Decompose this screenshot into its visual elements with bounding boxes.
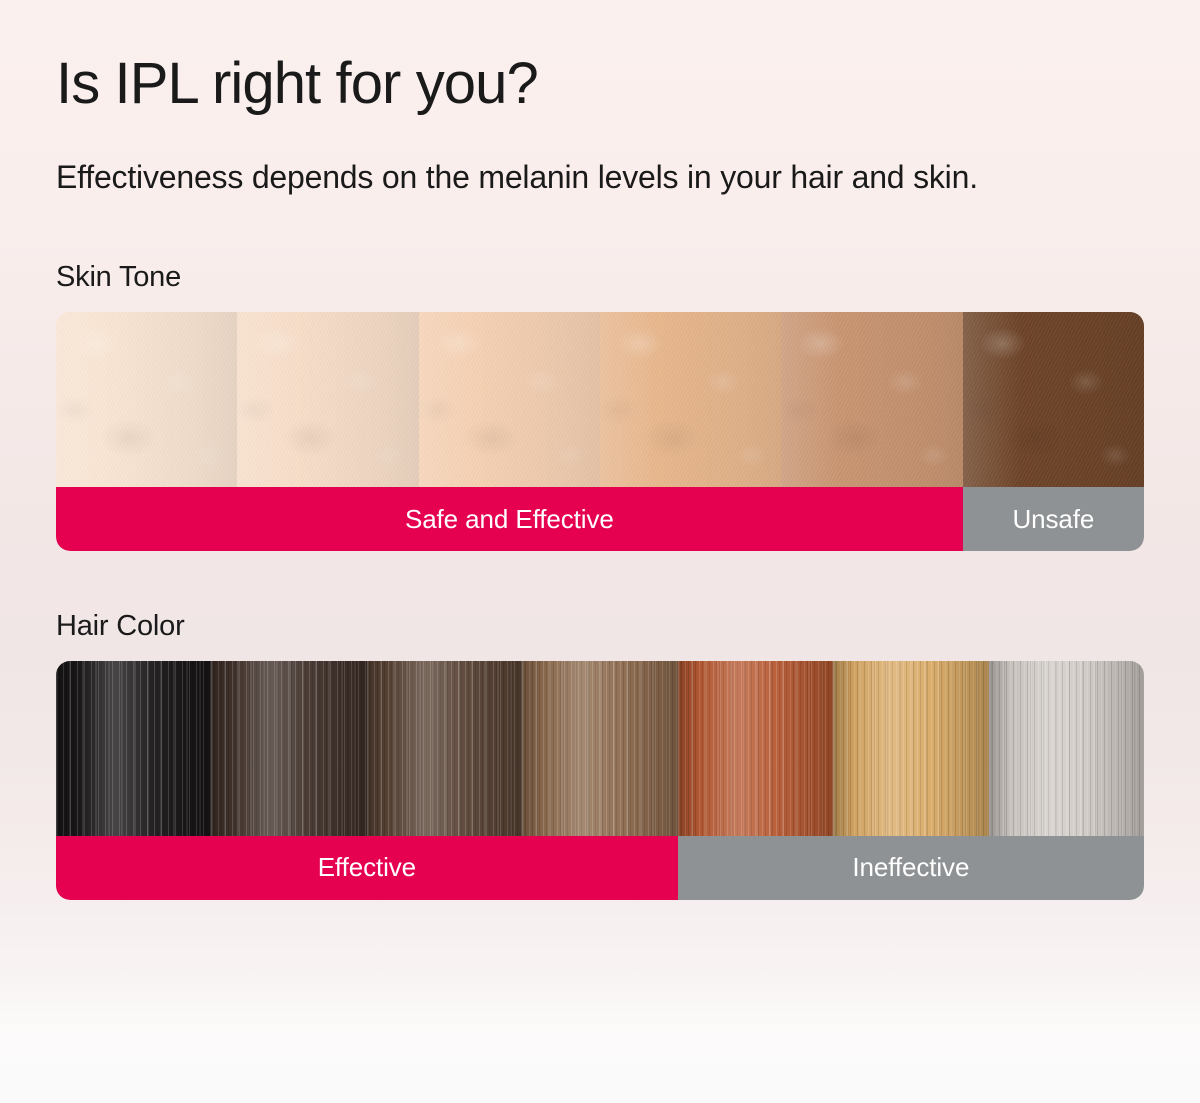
skin-tone-4-swatch xyxy=(600,312,781,487)
hair-color-red-swatch xyxy=(678,661,833,836)
section-skin-tone: Skin Tone Safe and EffectiveUnsafe xyxy=(0,260,1200,551)
skin-tone-2-swatch xyxy=(237,312,418,487)
section-hair-color: Hair Color EffectiveIneffective xyxy=(0,609,1200,900)
section-label-skin-tone: Skin Tone xyxy=(56,260,1144,295)
skin-tone-1-swatch xyxy=(56,312,237,487)
hair-color-verdicts: EffectiveIneffective xyxy=(56,836,1144,900)
skin-tone-card: Safe and EffectiveUnsafe xyxy=(56,312,1144,551)
hair-color-swatches xyxy=(56,661,1144,836)
page-title: Is IPL right for you? xyxy=(56,52,1144,117)
skin-tone-3-swatch xyxy=(419,312,600,487)
hair-color-dark-brown-swatch xyxy=(211,661,366,836)
hair-color-blonde-swatch xyxy=(833,661,988,836)
hair-color-black-swatch xyxy=(56,661,211,836)
skin-tone-swatches xyxy=(56,312,1144,487)
skin-tone-5-swatch xyxy=(781,312,962,487)
hair-color-light-brown-swatch xyxy=(522,661,677,836)
skin-tone-6-swatch xyxy=(963,312,1144,487)
hair-color-medium-brown-swatch xyxy=(367,661,522,836)
ipl-suitability-page: Is IPL right for you? Effectiveness depe… xyxy=(0,0,1200,1103)
section-label-hair-color: Hair Color xyxy=(56,609,1144,644)
effective-label: Effective xyxy=(56,836,678,900)
ineffective-label: Ineffective xyxy=(678,836,1144,900)
skin-tone-verdicts: Safe and EffectiveUnsafe xyxy=(56,487,1144,551)
unsafe-label: Unsafe xyxy=(963,487,1144,551)
safe-and-effective-label: Safe and Effective xyxy=(56,487,963,551)
page-subtitle: Effectiveness depends on the melanin lev… xyxy=(56,155,996,200)
hair-color-card: EffectiveIneffective xyxy=(56,661,1144,900)
hair-color-white-gray-swatch xyxy=(989,661,1144,836)
page-header: Is IPL right for you? Effectiveness depe… xyxy=(0,0,1200,200)
